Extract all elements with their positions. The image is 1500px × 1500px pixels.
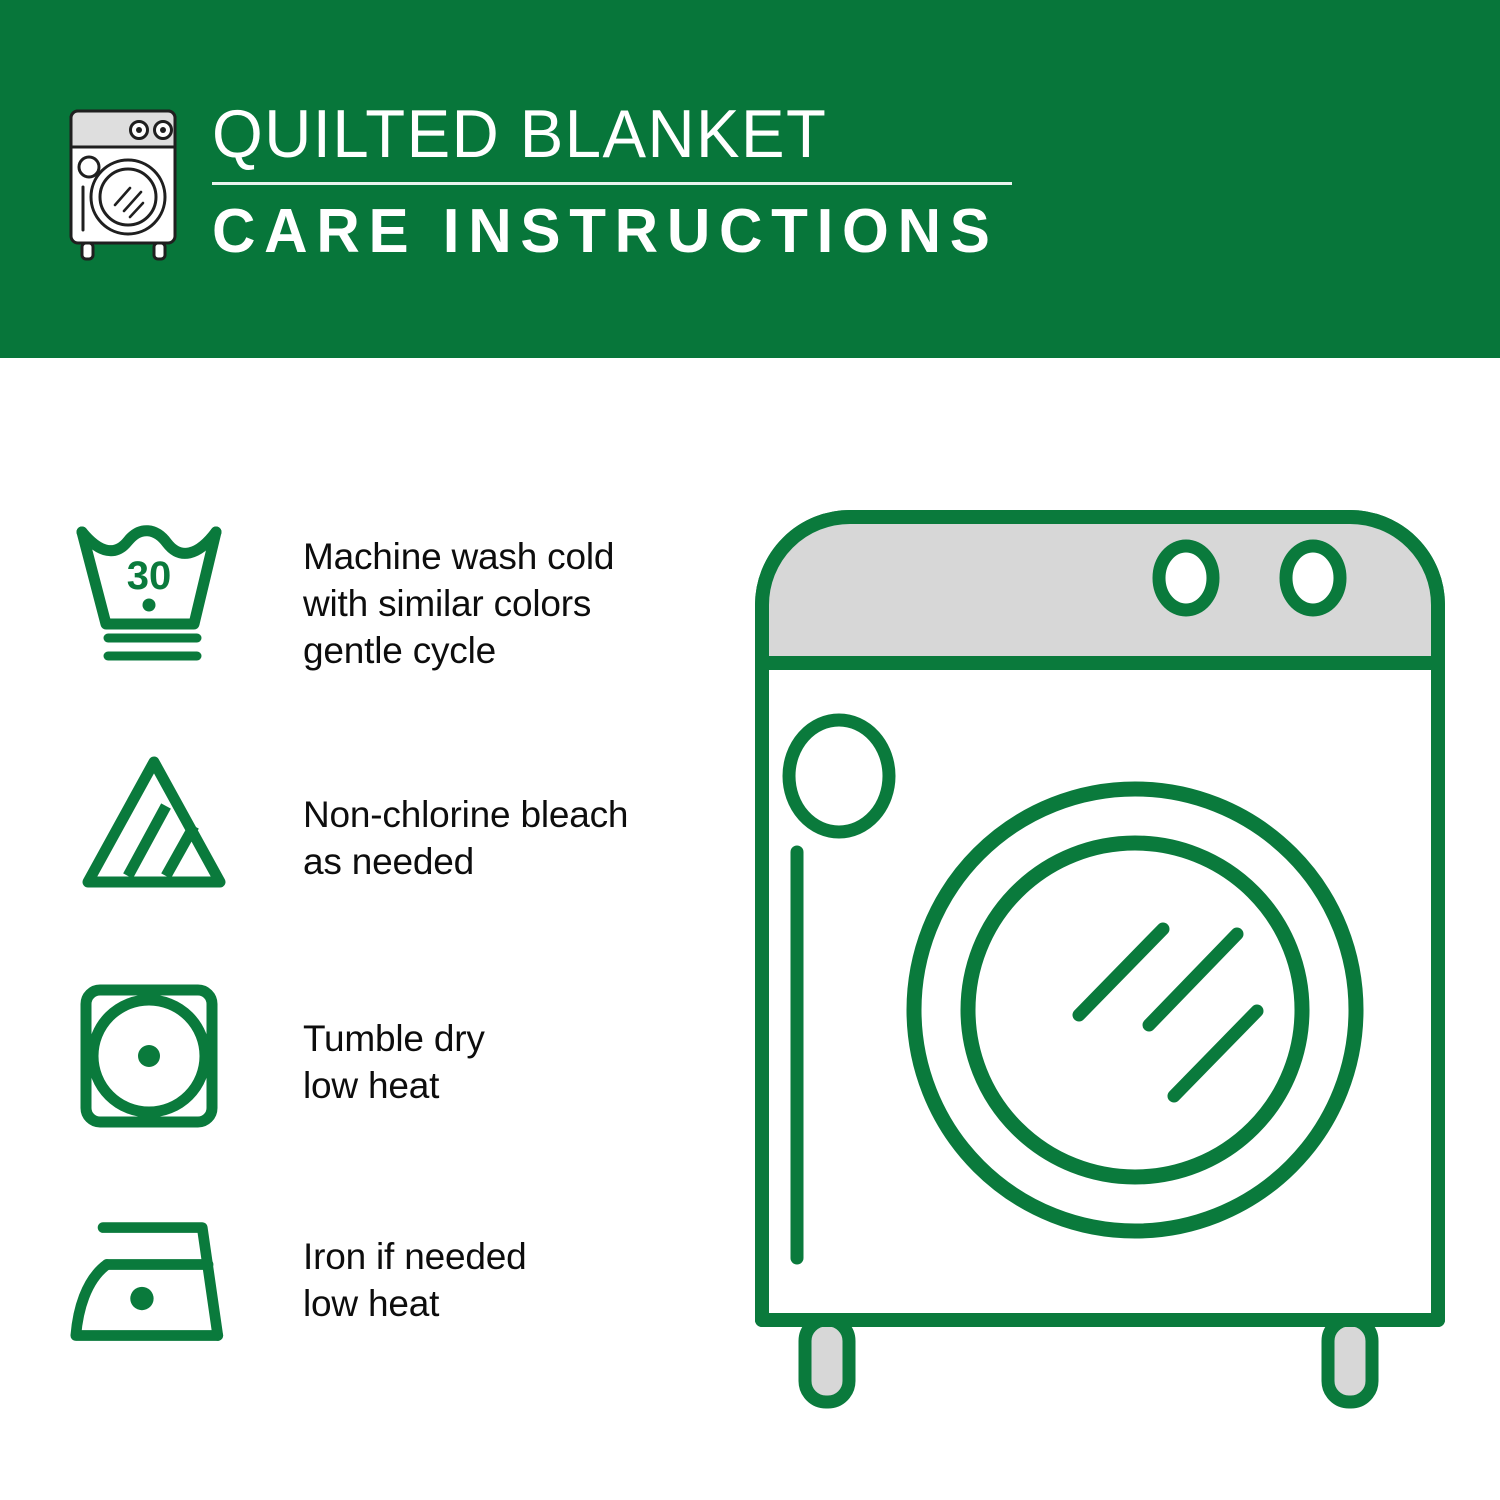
care-line: as needed <box>303 839 710 886</box>
iron-low-heat-icon <box>70 1208 245 1352</box>
non-chlorine-bleach-icon <box>70 744 245 898</box>
care-line: gentle cycle <box>303 628 710 675</box>
tumble-dry-low-icon <box>70 976 245 1130</box>
front-load-washing-machine-illustration <box>745 500 1455 1420</box>
detergent-dispenser <box>789 720 889 832</box>
care-item-iron: Iron if needed low heat <box>70 1208 710 1352</box>
care-item-machine-wash: 30 Machine wash cold with similar colors… <box>70 512 710 744</box>
care-instruction-list: 30 Machine wash cold with similar colors… <box>70 512 710 1352</box>
care-item-label: Non-chlorine bleach as needed <box>245 744 710 886</box>
knob-right <box>1286 546 1340 610</box>
care-line: low heat <box>303 1281 710 1328</box>
care-item-label: Tumble dry low heat <box>245 976 710 1110</box>
care-item-label: Iron if needed low heat <box>245 1208 710 1328</box>
care-line: low heat <box>303 1063 710 1110</box>
care-line: Machine wash cold <box>303 534 710 581</box>
header-banner: QUILTED BLANKET CARE INSTRUCTIONS <box>0 0 1500 358</box>
machine-wash-30-gentle-icon: 30 <box>70 512 245 666</box>
care-item-label: Machine wash cold with similar colors ge… <box>245 512 710 675</box>
washing-machine-logo-icon <box>62 105 192 265</box>
title-divider <box>212 182 1012 185</box>
care-line: Iron if needed <box>303 1234 710 1281</box>
leg-left <box>805 1320 849 1402</box>
page-subtitle: CARE INSTRUCTIONS <box>212 201 998 263</box>
care-item-bleach: Non-chlorine bleach as needed <box>70 744 710 976</box>
care-line: with similar colors <box>303 581 710 628</box>
leg-right <box>1328 1320 1372 1402</box>
care-line: Non-chlorine bleach <box>303 792 710 839</box>
page-title: QUILTED BLANKET <box>212 100 990 168</box>
knob-left <box>1159 546 1213 610</box>
care-line: Tumble dry <box>303 1016 710 1063</box>
care-item-tumble-dry: Tumble dry low heat <box>70 976 710 1208</box>
wash-temperature-value: 30 <box>127 554 172 598</box>
header-title-block: QUILTED BLANKET CARE INSTRUCTIONS <box>212 100 1022 263</box>
